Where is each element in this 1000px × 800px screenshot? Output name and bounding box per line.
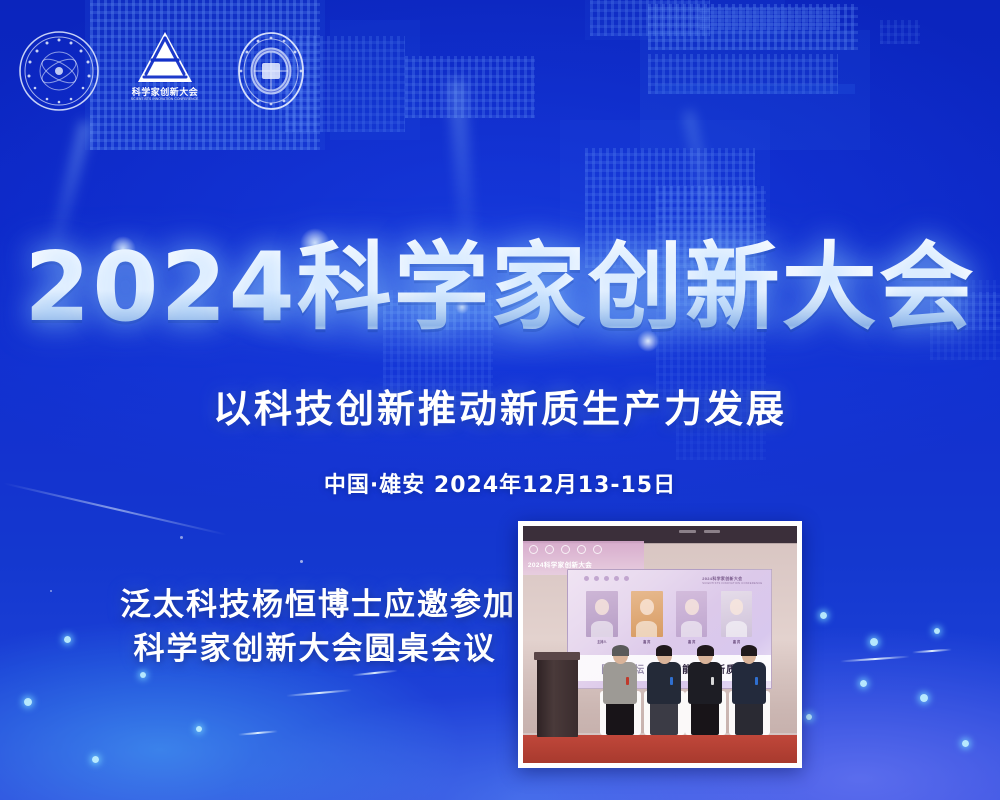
screen-header-sub: SCIENTISTS INNOVATION CONFERENCE: [702, 582, 762, 585]
photo-panelist-3: [682, 647, 729, 735]
banner-title: 2024科学家创新大会: [528, 559, 592, 569]
panelist-card: 主持人: [586, 591, 618, 644]
panelist-name: 嘉 宾: [721, 640, 753, 644]
event-caption: 泛太科技杨恒博士应邀参加 科学家创新大会圆桌会议: [120, 583, 510, 671]
banner-ring-icon: [593, 545, 602, 554]
screen-panelist-grid: 主持人 嘉 宾 嘉 宾 嘉 宾: [586, 591, 752, 644]
panelist-portrait: [631, 591, 663, 637]
caption-line-1: 泛太科技杨恒博士应邀参加: [120, 583, 510, 627]
photo-panelist-2: [641, 647, 688, 735]
poster-title: 2024科学家创新大会: [24, 236, 975, 340]
triangle-emblem-tagline: SCIENTISTS INNOVATION CONFERENCE: [131, 98, 198, 102]
panelist-portrait: [586, 591, 618, 637]
caption-line-2: 科学家创新大会圆桌会议: [120, 627, 510, 671]
poster-title-row: 2024科学家创新大会: [0, 236, 1000, 340]
photo-panelist-4: [726, 647, 773, 735]
triangle-emblem-wordmark: 科学家创新大会: [132, 88, 199, 97]
banner-icon-row: [529, 545, 602, 554]
banner-delta-icon: [577, 545, 586, 554]
event-photo-frame: 2024科学家创新大会 2024科学家创新大会 SCIENTISTS INNOV…: [518, 521, 802, 768]
logo-row: 科学家创新大会 SCIENTISTS INNOVATION CONFERENCE: [18, 30, 312, 122]
poster-canvas: 科学家创新大会 SCIENTISTS INNOVATION CONFERENCE: [0, 0, 1000, 800]
poster-subtitle: 以科技创新推动新质生产力发展: [213, 386, 787, 432]
banner-triangle-icon: [545, 545, 554, 554]
panelist-portrait: [676, 591, 708, 637]
event-photo: 2024科学家创新大会 2024科学家创新大会 SCIENTISTS INNOV…: [523, 526, 797, 763]
photo-panelist-1: [597, 647, 644, 735]
screen-icon-row: [584, 576, 629, 581]
panelist-name: 主持人: [586, 640, 618, 644]
poster-subtitle-row: 以科技创新推动新质生产力发展: [0, 386, 1000, 432]
panelist-card: 嘉 宾: [676, 591, 708, 644]
panelist-card: 嘉 宾: [721, 591, 753, 644]
banner-globe-icon: [529, 545, 538, 554]
panelist-name: 嘉 宾: [676, 640, 708, 644]
photo-podium: [537, 656, 578, 737]
academy-seal-right-icon: [230, 30, 312, 112]
panelist-portrait: [721, 591, 753, 637]
panelist-name: 嘉 宾: [631, 640, 663, 644]
triangle-emblem-center-icon: 科学家创新大会 SCIENTISTS INNOVATION CONFERENCE: [126, 30, 204, 122]
panelist-card: 嘉 宾: [631, 591, 663, 644]
academy-seal-left-icon: [18, 30, 100, 112]
banner-circle-icon: [561, 545, 570, 554]
screen-header: 2024科学家创新大会 SCIENTISTS INNOVATION CONFER…: [702, 576, 762, 585]
photo-stage-floor: [523, 735, 797, 763]
